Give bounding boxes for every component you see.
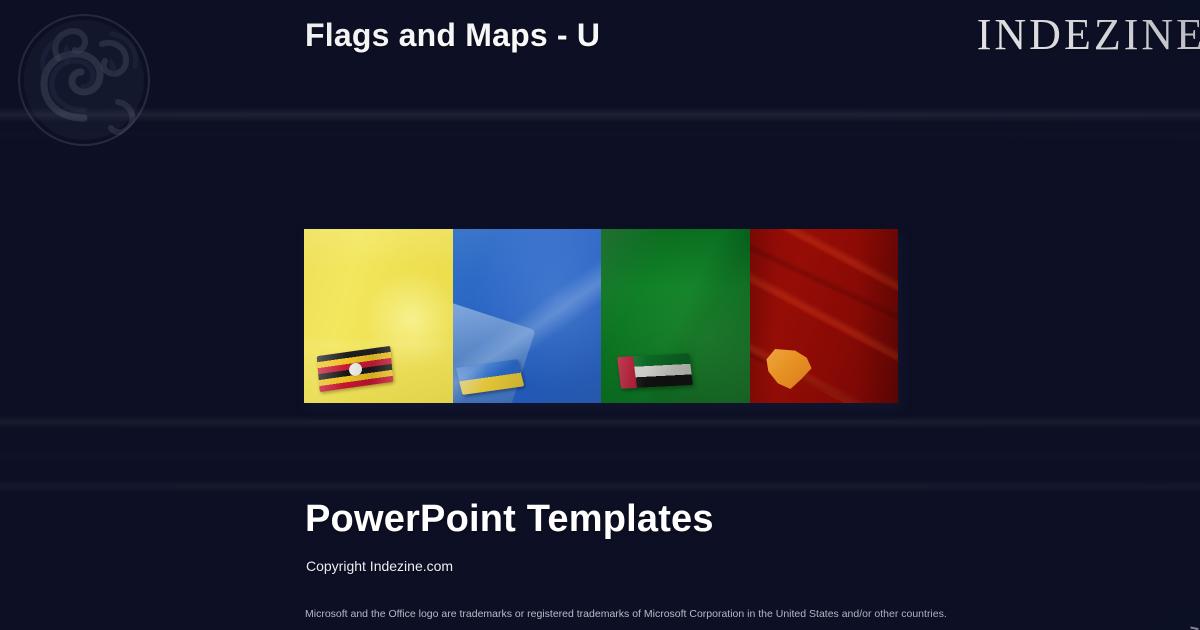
uruguay-map-icon xyxy=(766,349,814,389)
trademark-disclaimer: Microsoft and the Office logo are tradem… xyxy=(305,608,947,620)
slide-canvas: Flags and Maps - U INDEZINE indezine.com… xyxy=(0,0,1200,630)
flag-sheen xyxy=(317,346,394,392)
ukraine-drape-shape xyxy=(453,301,535,403)
uae-flag-bands xyxy=(633,353,693,388)
thumbnail-uruguay[interactable] xyxy=(750,229,899,403)
thumbnail-united-arab-emirates[interactable] xyxy=(601,229,750,403)
thumbnail-ukraine[interactable] xyxy=(453,229,602,403)
copyright-text: Copyright Indezine.com xyxy=(306,558,453,574)
thumbnail-uganda[interactable] xyxy=(304,229,453,403)
uae-flag-icon xyxy=(617,353,693,389)
brand-logo-text: INDEZINE xyxy=(977,9,1200,60)
page-title: Flags and Maps - U xyxy=(305,17,600,54)
flag-sheen xyxy=(455,359,524,395)
ukraine-flag-icon xyxy=(455,359,524,395)
uae-flag-hoist xyxy=(617,356,637,389)
celtic-swirl-logo-icon xyxy=(14,10,154,150)
flag-thumbnail-strip xyxy=(304,229,898,403)
footer-title: PowerPoint Templates xyxy=(305,498,714,541)
uganda-crane-disc-icon xyxy=(348,362,362,377)
vertical-url-watermark: indezine.com/powerpoint/templates/catego… xyxy=(1185,626,1200,630)
flag-sheen xyxy=(617,353,693,389)
uganda-flag-icon xyxy=(317,346,394,392)
